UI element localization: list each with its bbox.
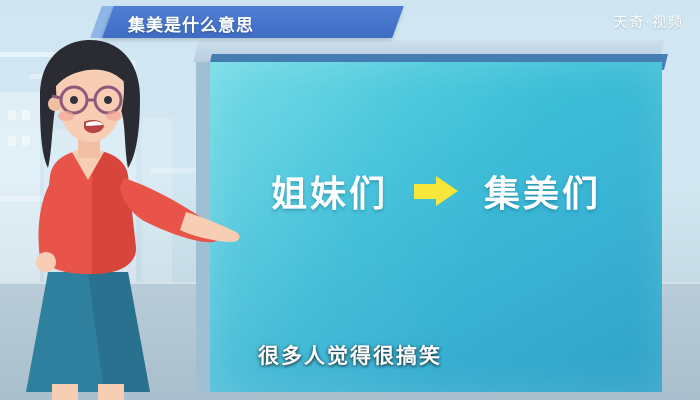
building-shape — [44, 130, 78, 282]
building-window — [94, 82, 103, 93]
building-shape — [142, 118, 172, 282]
building-window — [8, 110, 16, 120]
speed-streak — [29, 74, 122, 79]
board-left-word: 姐妹们 — [271, 165, 388, 217]
speed-streak — [0, 196, 141, 201]
video-frame: 姐妹们 集美们 — [0, 0, 700, 400]
building-window — [22, 136, 30, 146]
building-window — [94, 108, 103, 119]
watermark-text: 天奇·视频 — [614, 12, 684, 32]
building-shape — [0, 92, 40, 282]
speed-streak — [0, 52, 111, 57]
right-arrow-icon — [414, 176, 458, 206]
building-window — [112, 108, 121, 119]
title-banner-text: 集美是什么意思 — [128, 11, 378, 36]
board-right-word: 集美们 — [484, 165, 601, 217]
building-window — [112, 82, 121, 93]
building-window — [8, 136, 16, 146]
subtitle-text: 很多人觉得很搞笑 — [0, 340, 700, 370]
board-content-line: 姐妹们 集美们 — [210, 165, 662, 217]
building-shape — [84, 60, 136, 282]
building-window — [22, 110, 30, 120]
